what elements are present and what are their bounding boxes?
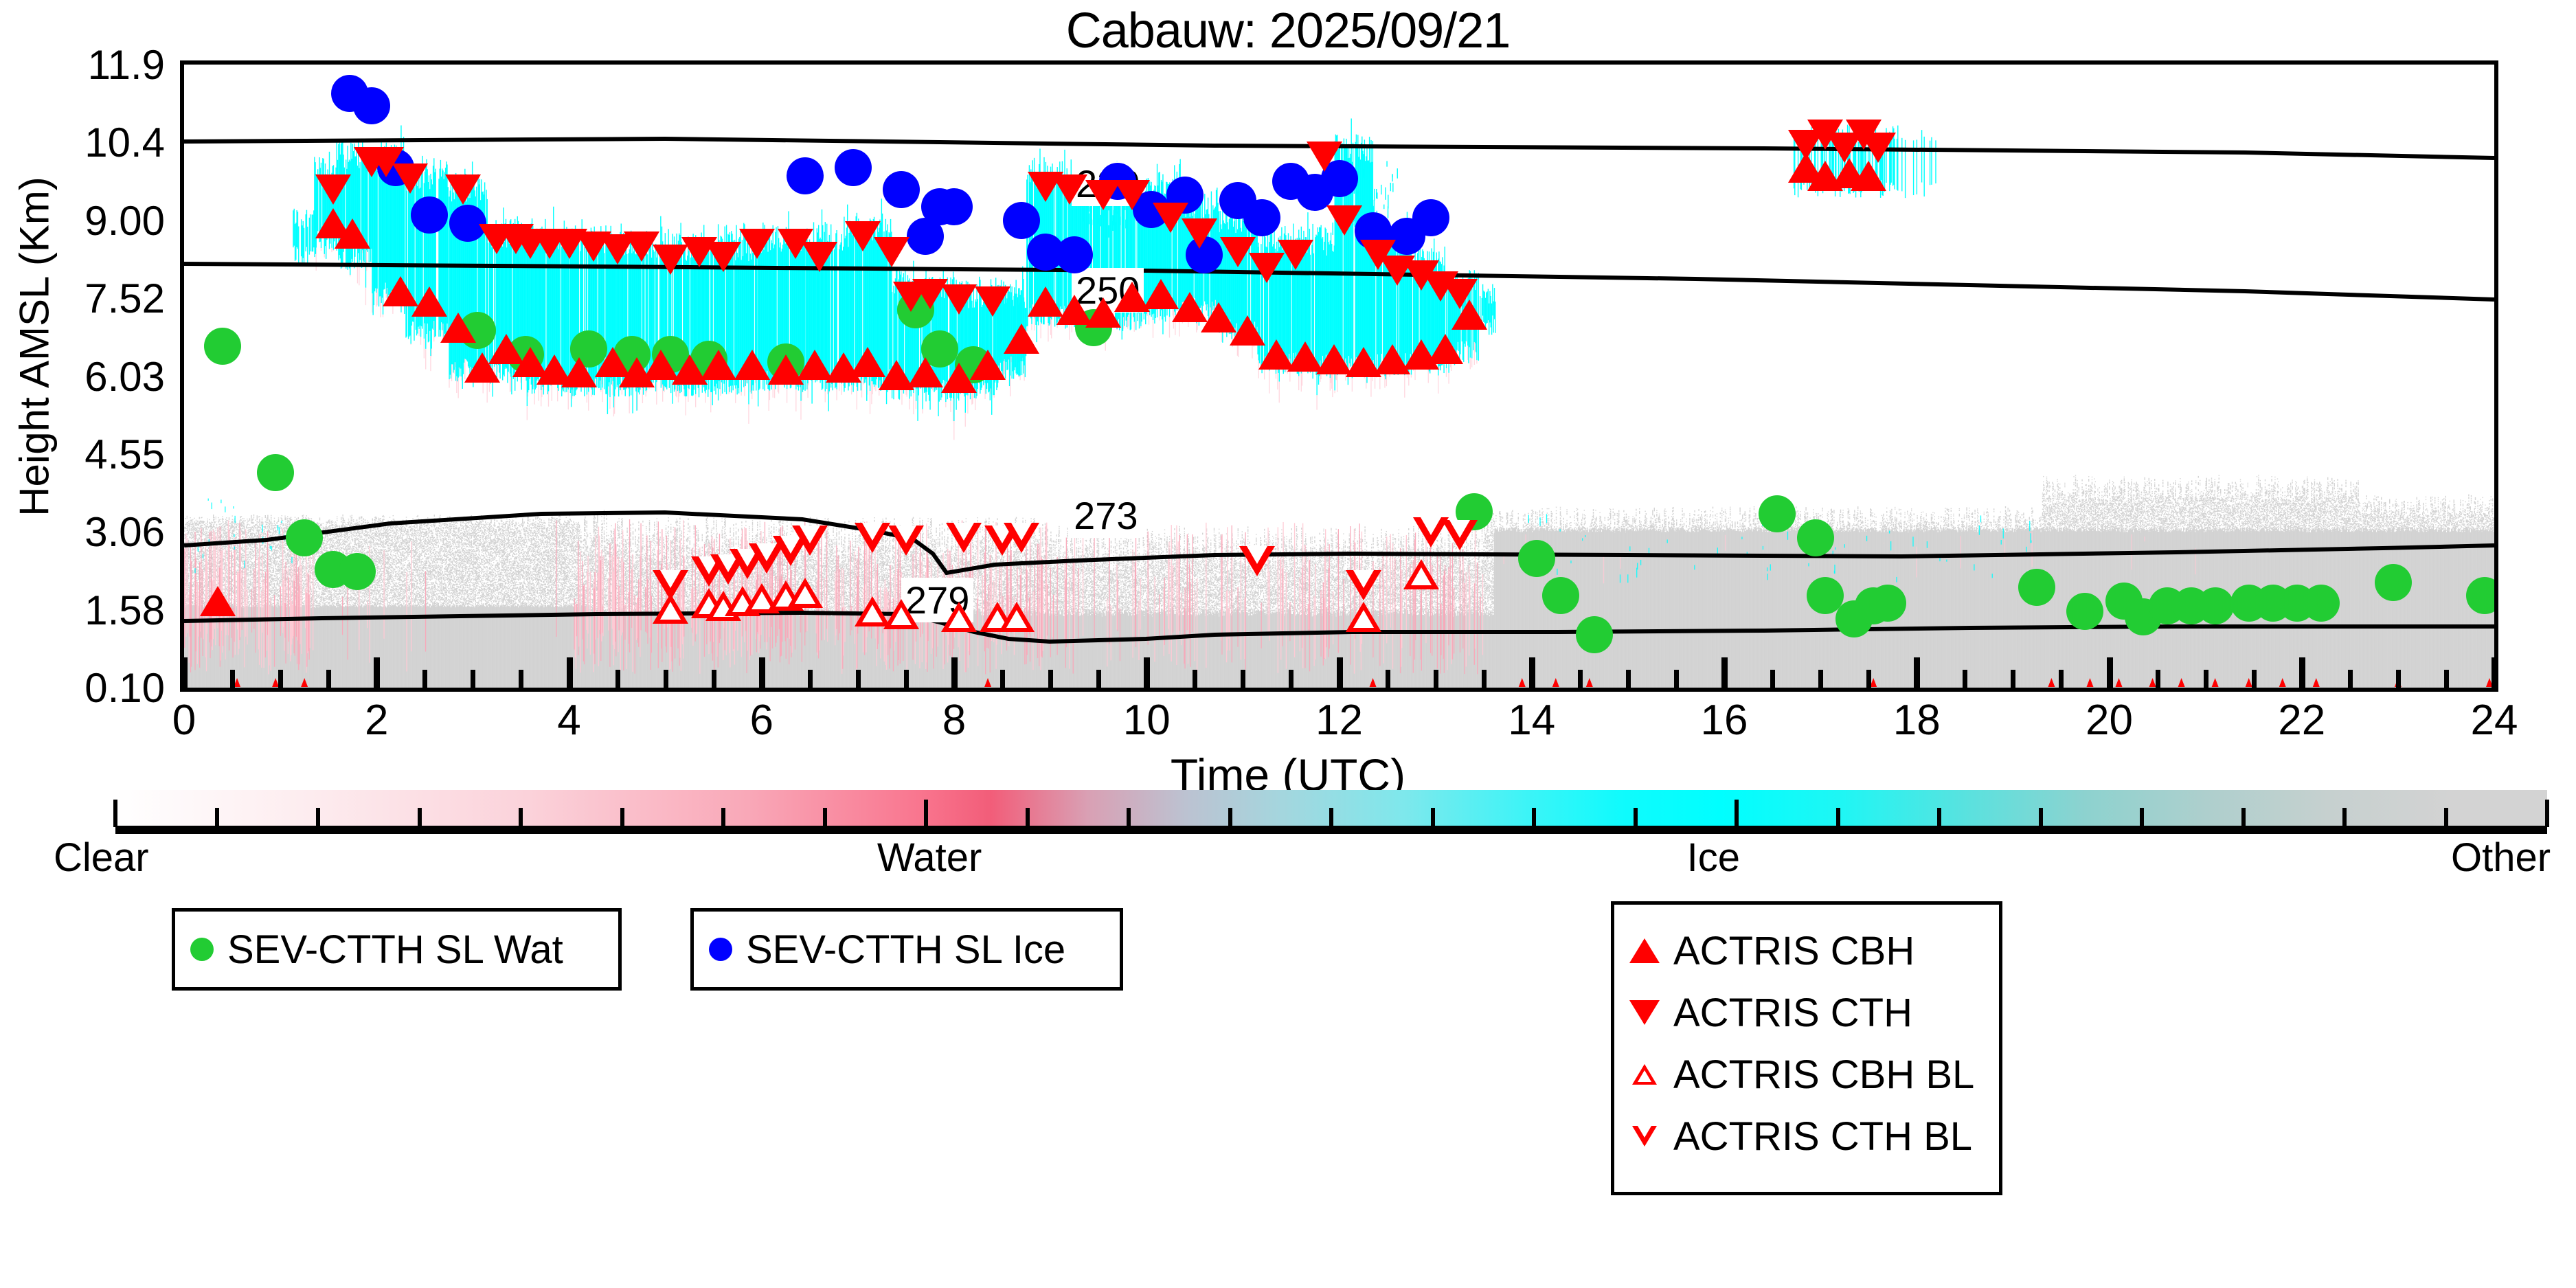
colorbar-tick (2039, 808, 2043, 827)
x-tick-minor (1048, 670, 1053, 688)
x-tick-label: 24 (2426, 696, 2563, 745)
marker-actris-cth-bl-inner (1247, 546, 1267, 564)
legend-label-actris-cbh-bl: ACTRIS CBH BL (1673, 1052, 1974, 1098)
marker-actris-cth (705, 242, 741, 272)
colorbar-tick (113, 800, 117, 827)
colorbar-tick (1127, 808, 1131, 827)
x-tick-major (1144, 657, 1150, 688)
y-tick-label: 7.52 (0, 275, 165, 322)
marker-sev-ctth-sl-wat (2303, 585, 2340, 622)
legend-label-actris-cbh: ACTRIS CBH (1673, 928, 1914, 974)
legend-label-sev-ice: SEV-CTTH SL Ice (746, 927, 1065, 973)
plot-canvas: 230250273279 (184, 65, 2494, 688)
x-tick-minor (1482, 670, 1487, 688)
x-tick-minor (278, 670, 283, 688)
marker-sev-ctth-sl-wat (1797, 519, 1834, 556)
x-tick-minor (1818, 670, 1823, 688)
x-tick-label: 6 (693, 696, 831, 745)
colorbar-tick (1228, 808, 1232, 827)
marker-actris-cbh-bl-inner (891, 607, 912, 625)
marker-actris-cbh (734, 350, 770, 380)
colorbar-tick (1634, 808, 1638, 827)
x-tick-minor (1289, 670, 1293, 688)
marker-actris-cbh-bl-inner (795, 586, 815, 604)
colorbar-tick (2140, 808, 2144, 827)
marker-actris-cth (445, 174, 481, 205)
marker-sev-ctth-sl-wat (2066, 593, 2103, 630)
legend-label-actris-cth-bl: ACTRIS CTH BL (1673, 1114, 1972, 1160)
x-tick-minor (712, 670, 716, 688)
x-tick-minor (904, 670, 909, 688)
plot-area[interactable]: 230250273279 (180, 60, 2498, 692)
marker-actris-cbh-bl-inner (949, 610, 969, 628)
marker-actris-cth (1326, 205, 1362, 236)
marker-actris-cth (802, 242, 837, 272)
marker-actris-cbh-bl-inner (660, 602, 681, 620)
x-tick-major (2107, 657, 2113, 688)
x-tick-minor (1866, 670, 1871, 688)
marker-actris-cbh (1004, 324, 1039, 354)
marker-actris-cbh (440, 313, 476, 343)
colorbar-tick (620, 808, 624, 827)
marker-actris-cbh (335, 218, 370, 249)
marker-actris-cth (941, 284, 977, 315)
x-tick-label: 16 (1656, 696, 1793, 745)
x-tick-major (759, 657, 765, 688)
x-tick-major (181, 657, 188, 688)
x-tick-minor (326, 670, 331, 688)
marker-actris-cth (315, 174, 351, 205)
marker-actris-cth-bl-inner (1421, 517, 1441, 535)
triangle-down-filled-icon (1629, 1000, 1660, 1025)
x-tick-minor (664, 670, 668, 688)
x-tick-minor (808, 670, 813, 688)
marker-actris-cbh (701, 350, 736, 380)
colorbar-tick (1836, 808, 1840, 827)
y-tick-label: 6.03 (0, 353, 165, 400)
x-tick-minor (1000, 670, 1005, 688)
x-tick-minor (1674, 670, 1679, 688)
y-tick-label: 4.55 (0, 431, 165, 478)
marker-actris-cbh (1451, 300, 1487, 330)
y-tick-label: 9.00 (0, 197, 165, 245)
x-tick-minor (471, 670, 475, 688)
green-circle-icon (190, 938, 214, 961)
x-tick-major (951, 657, 958, 688)
x-tick-minor (422, 670, 427, 688)
marker-sev-ctth-sl-wat (1576, 616, 1613, 653)
x-tick-minor (615, 670, 620, 688)
marker-actris-cth (1114, 180, 1150, 210)
x-tick-label: 22 (2233, 696, 2371, 745)
x-tick-major (374, 657, 380, 688)
x-tick-minor (1963, 670, 1967, 688)
marker-actris-cbh (970, 350, 1006, 380)
marker-sev-ctth-sl-wat (1518, 540, 1555, 577)
marker-actris-cth (1307, 142, 1342, 172)
y-tick-label: 11.9 (0, 41, 165, 89)
x-tick-minor (2396, 670, 2401, 688)
marker-sev-ctth-sl-wat (204, 328, 241, 365)
legend-sev-ctth-sl-wat[interactable]: SEV-CTTH SL Wat (172, 908, 622, 991)
x-tick-minor (2059, 670, 2064, 688)
marker-actris-cth-bl-inner (1449, 520, 1470, 538)
marker-sev-ctth-sl-ice (1056, 236, 1093, 273)
x-tick-minor (2252, 670, 2257, 688)
x-tick-minor (1578, 670, 1583, 688)
x-tick-major (2492, 657, 2498, 688)
x-tick-minor (1770, 670, 1775, 688)
marker-sev-ctth-sl-wat (2197, 587, 2234, 624)
colorbar-tick (823, 808, 827, 827)
triangle-up-filled-icon (1629, 938, 1660, 963)
x-tick-major (1914, 657, 1920, 688)
x-tick-minor (1626, 670, 1631, 688)
marker-actris-cth-bl-inner (862, 523, 883, 541)
colorbar-tick (1735, 800, 1739, 827)
contour-label-273: 273 (1070, 493, 1142, 538)
x-tick-minor (2011, 670, 2015, 688)
page-title: Cabauw: 2025/09/21 (0, 3, 2576, 59)
marker-actris-cth (1278, 240, 1313, 270)
marker-actris-cbh-bl-inner (1006, 610, 1027, 628)
marker-actris-cth-bl-inner (896, 526, 916, 543)
x-tick-label: 2 (308, 696, 445, 745)
y-tick-label: 10.4 (0, 119, 165, 166)
marker-actris-cth-bl-inner (953, 523, 974, 541)
legend-sev-ctth-sl-ice[interactable]: SEV-CTTH SL Ice (690, 908, 1123, 991)
colorbar-tick (1329, 808, 1333, 827)
x-tick-label: 0 (115, 696, 253, 745)
x-tick-minor (1434, 670, 1438, 688)
x-tick-minor (2204, 670, 2208, 688)
colorbar-tick (316, 808, 320, 827)
x-tick-minor (1386, 670, 1390, 688)
x-tick-minor (2156, 670, 2160, 688)
colorbar-tick (924, 800, 928, 827)
x-tick-label: 12 (1271, 696, 1408, 745)
triangle-up-open-icon (1632, 1064, 1657, 1085)
colorbar-label-water: Water (877, 835, 982, 881)
marker-actris-cth-bl-inner (1011, 523, 1032, 541)
colorbar-tick (2342, 808, 2347, 827)
x-tick-minor (1096, 670, 1101, 688)
legend-label-sev-wat: SEV-CTTH SL Wat (227, 927, 563, 973)
x-tick-major (1721, 657, 1728, 688)
x-tick-minor (1241, 670, 1245, 688)
x-tick-label: 10 (1078, 696, 1215, 745)
colorbar-tick (2545, 800, 2549, 827)
marker-actris-cth-bl-inner (800, 526, 820, 543)
marker-actris-cth (975, 286, 1010, 317)
marker-actris-cbh (1851, 161, 1886, 191)
marker-sev-ctth-sl-ice (835, 149, 872, 186)
x-tick-minor (1193, 670, 1197, 688)
marker-sev-ctth-sl-wat (257, 454, 294, 491)
colorbar-label-clear: Clear (54, 835, 149, 881)
x-tick-major (567, 657, 573, 688)
marker-sev-ctth-sl-ice (1243, 199, 1280, 236)
x-tick-label: 18 (1848, 696, 1985, 745)
marker-actris-cth (1052, 174, 1087, 205)
colorbar-tick (721, 808, 725, 827)
colorbar-tick (2444, 808, 2448, 827)
marker-actris-cbh (200, 586, 236, 616)
marker-actris-cbh (907, 357, 943, 387)
marker-sev-ctth-sl-wat (1542, 577, 1579, 614)
marker-sev-ctth-sl-ice (787, 157, 824, 194)
marker-actris-cth (874, 237, 909, 267)
colorbar-tick (1937, 808, 1941, 827)
x-tick-minor (2444, 670, 2449, 688)
marker-sev-ctth-sl-ice (1412, 199, 1449, 236)
colorbar-tick (418, 808, 422, 827)
legend-label-actris-cth: ACTRIS CTH (1673, 990, 1912, 1036)
marker-actris-cbh-bl-inner (1353, 610, 1374, 628)
colorbar-label-other: Other (2451, 835, 2551, 881)
y-tick-label: 3.06 (0, 508, 165, 556)
blue-circle-icon (709, 938, 732, 961)
marker-actris-cth (392, 163, 428, 194)
x-tick-label: 4 (501, 696, 638, 745)
x-tick-minor (2348, 670, 2353, 688)
x-tick-label: 14 (1463, 696, 1601, 745)
marker-actris-cbh (1427, 334, 1463, 364)
marker-actris-cbh-bl-inner (862, 605, 883, 622)
legend-actris[interactable]: ACTRIS CBH ACTRIS CTH ACTRIS CBH BL ACTR… (1611, 901, 2002, 1195)
y-tick-label: 1.58 (0, 587, 165, 634)
colorbar-tick (2241, 808, 2246, 827)
marker-sev-ctth-sl-ice (883, 171, 920, 208)
marker-actris-cbh (561, 357, 597, 387)
colorbar-tick (1431, 808, 1435, 827)
marker-actris-cth (1182, 218, 1217, 249)
marker-actris-cbh-bl-inner (1411, 567, 1432, 585)
x-tick-label: 20 (2041, 696, 2178, 745)
x-tick-minor (856, 670, 861, 688)
x-tick-minor (230, 670, 235, 688)
x-tick-label: 8 (885, 696, 1023, 745)
colorbar-tick (1532, 808, 1536, 827)
marker-sev-ctth-sl-ice (1003, 202, 1040, 239)
colorbar-tick (1026, 808, 1030, 827)
marker-actris-cth (739, 229, 775, 259)
colorbar-label-ice: Ice (1687, 835, 1740, 881)
x-tick-major (1529, 657, 1535, 688)
x-tick-major (2299, 657, 2305, 688)
marker-sev-ctth-sl-wat (2375, 564, 2412, 601)
marker-sev-ctth-sl-ice (411, 196, 448, 234)
triangle-down-open-icon (1632, 1126, 1657, 1146)
colorbar-tick (519, 808, 523, 827)
x-tick-major (1337, 657, 1343, 688)
marker-sev-ctth-sl-wat (286, 519, 323, 556)
colorbar-tick (215, 808, 219, 827)
marker-sev-ctth-sl-ice (936, 188, 973, 225)
x-tick-minor (519, 670, 523, 688)
marker-actris-cth-bl-inner (660, 570, 681, 588)
marker-actris-cth-bl-inner (1353, 570, 1374, 588)
